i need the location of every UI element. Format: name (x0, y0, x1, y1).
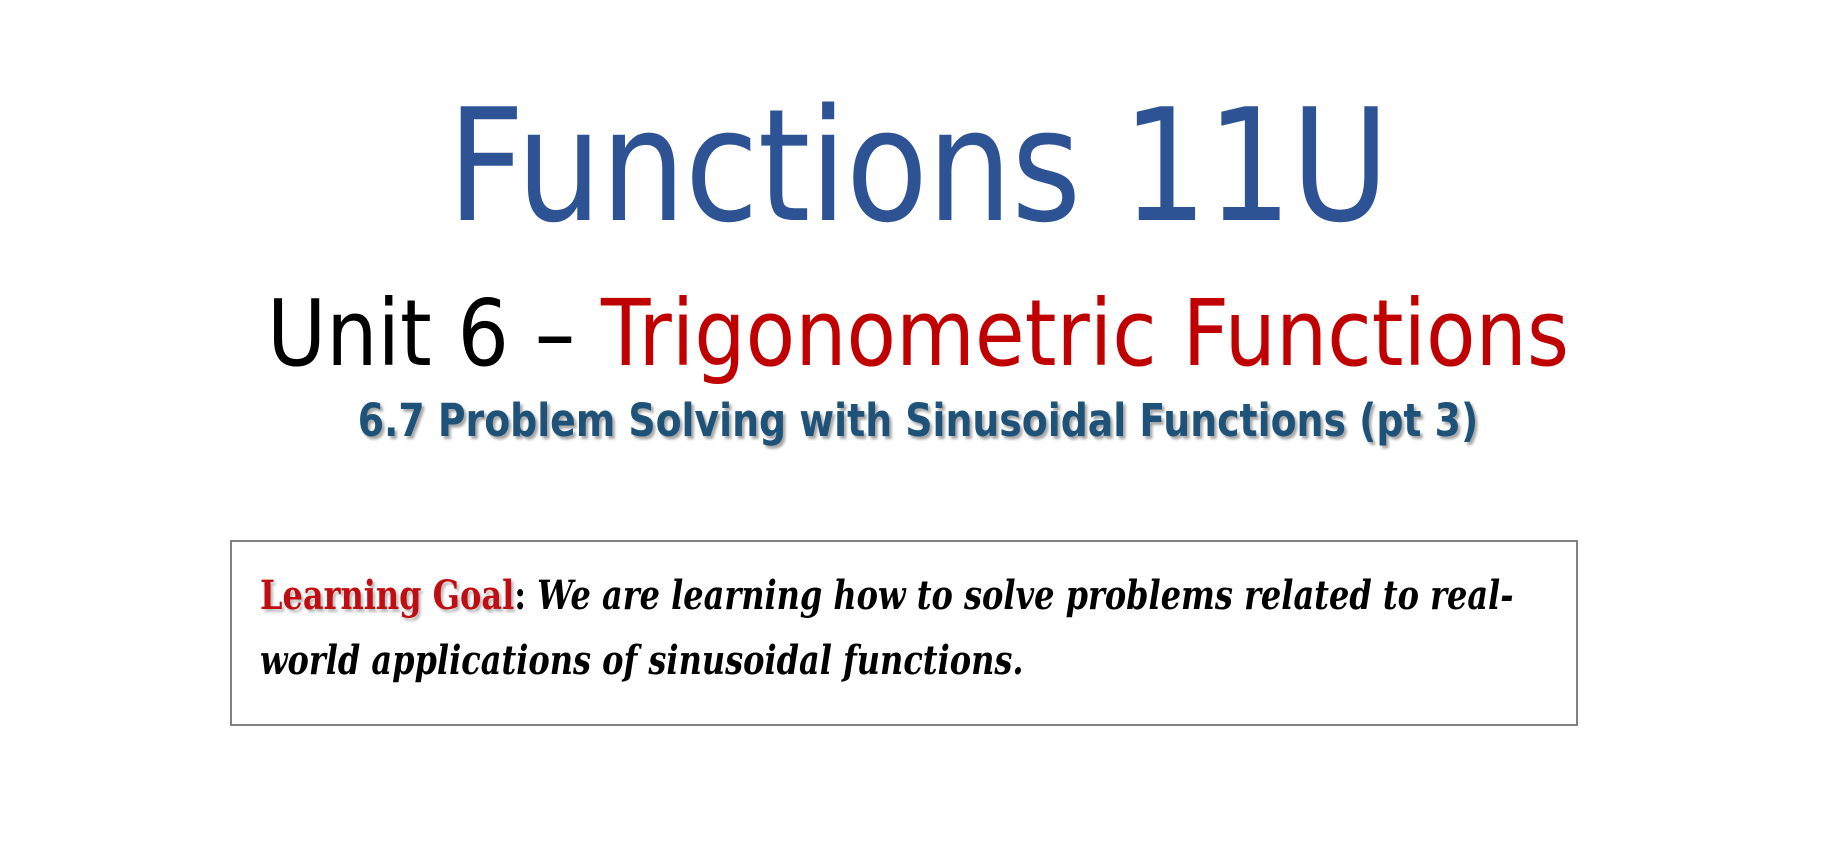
page-title: Functions 11U (129, 88, 1708, 244)
section-subtitle: 6.7 Problem Solving with Sinusoidal Func… (147, 398, 1689, 443)
learning-goal-paragraph: Learning Goal: We are learning how to so… (260, 564, 1548, 694)
unit-heading: Unit 6 – Trigonometric Functions (110, 288, 1726, 380)
unit-heading-topic: Trigonometric Functions (601, 280, 1569, 387)
slide-canvas: Functions 11U Unit 6 – Trigonometric Fun… (0, 0, 1836, 852)
unit-heading-prefix: Unit 6 – (267, 280, 601, 387)
learning-goal-label: Learning Goal (260, 572, 514, 619)
learning-goal-box: Learning Goal: We are learning how to so… (230, 540, 1578, 726)
learning-goal-colon: : (514, 572, 526, 619)
